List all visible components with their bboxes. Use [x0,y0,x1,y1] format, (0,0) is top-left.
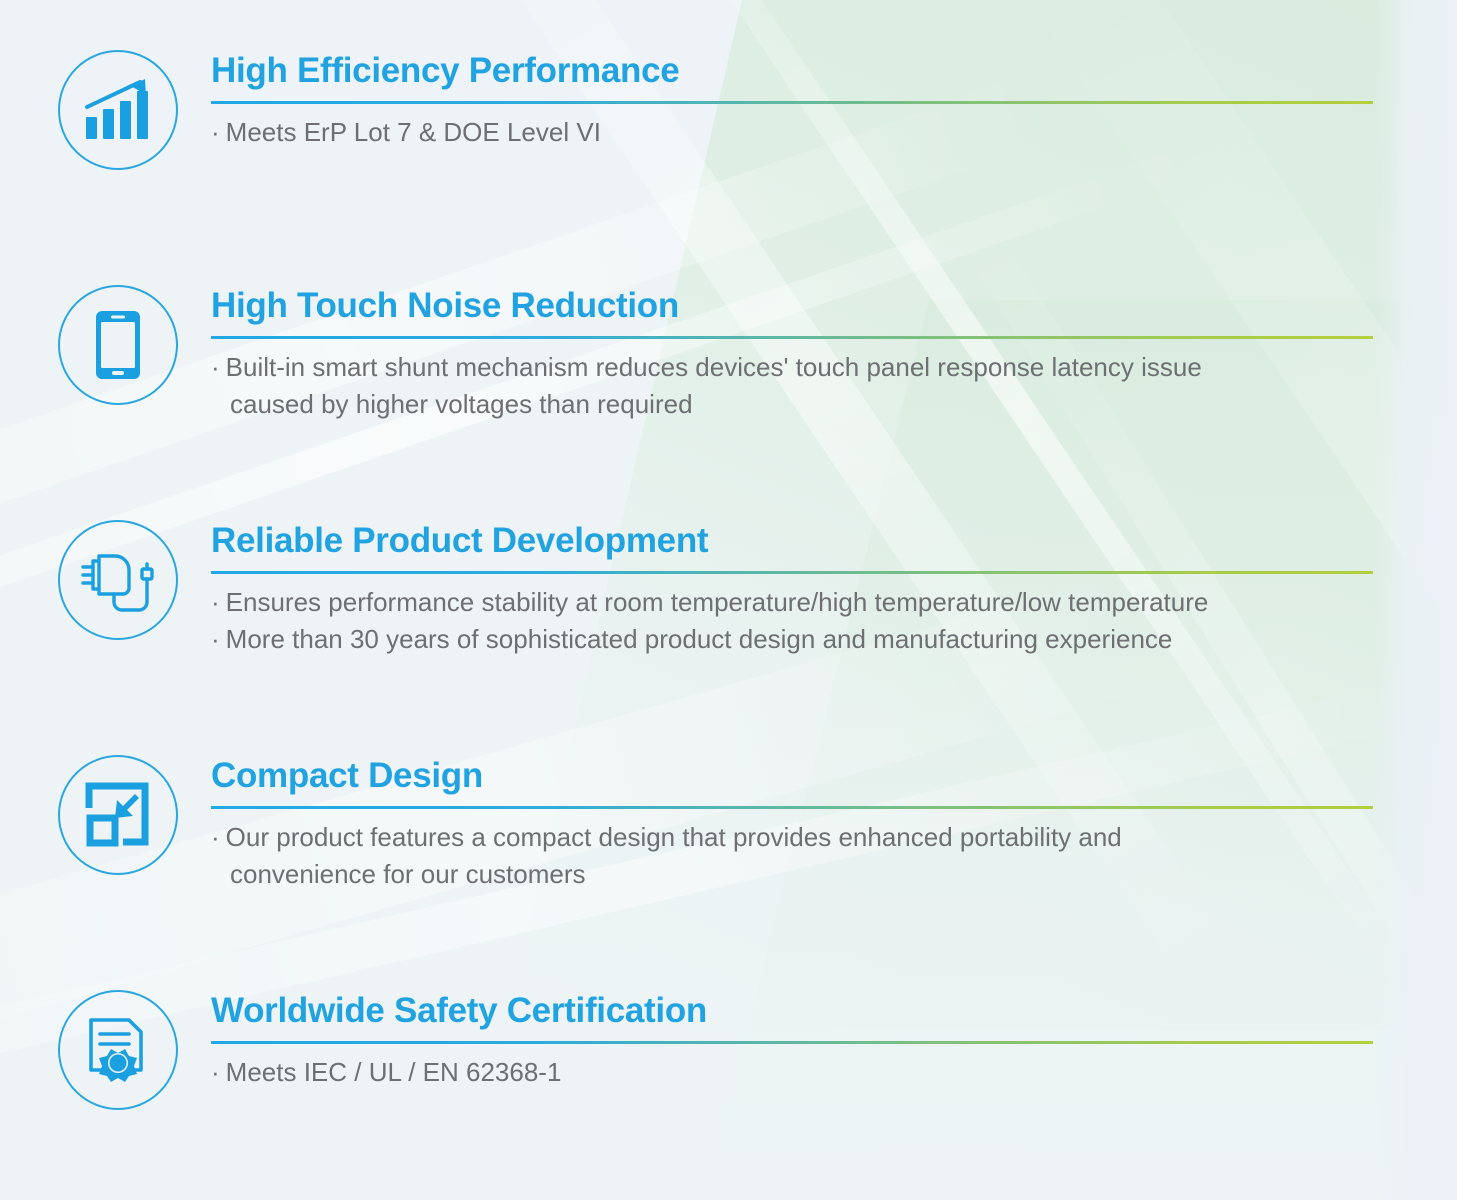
bullet-line: convenience for our customers [211,856,1375,893]
feature-bullet: ·Meets IEC / UL / EN 62368-1 [211,1054,1375,1091]
power-adapter-icon [58,520,178,640]
feature-divider [211,806,1373,809]
smartphone-icon [58,285,178,405]
feature-icon-wrap [55,990,181,1110]
feature-title: Reliable Product Development [211,520,1375,562]
feature-bullet: ·Our product features a compact design t… [211,819,1375,893]
feature-item-high-touch-noise-reduction: High Touch Noise Reduction ·Built-in sma… [0,285,1457,423]
compact-resize-icon [58,755,178,875]
bullet-marker: · [211,587,220,617]
feature-title: High Efficiency Performance [211,50,1375,92]
bullet-marker: · [211,822,220,852]
bullet-marker: · [211,352,220,382]
feature-bullet: ·More than 30 years of sophisticated pro… [211,621,1375,658]
feature-item-reliable-product-development: Reliable Product Development ·Ensures pe… [0,520,1457,658]
bullet-marker: · [211,1057,220,1087]
feature-divider [211,1041,1373,1044]
feature-title: Compact Design [211,755,1375,797]
bullet-line: Meets ErP Lot 7 & DOE Level VI [226,117,601,147]
feature-divider [211,571,1373,574]
feature-bullets: ·Meets IEC / UL / EN 62368-1 [211,1054,1375,1091]
feature-body: High Efficiency Performance ·Meets ErP L… [211,50,1457,151]
feature-list: High Efficiency Performance ·Meets ErP L… [0,0,1457,1200]
feature-list-page: High Efficiency Performance ·Meets ErP L… [0,0,1457,1200]
feature-bullets: ·Ensures performance stability at room t… [211,584,1375,658]
feature-item-compact-design: Compact Design ·Our product features a c… [0,755,1457,893]
feature-bullet: ·Ensures performance stability at room t… [211,584,1375,621]
bar-chart-growth-icon [58,50,178,170]
feature-body: Worldwide Safety Certification ·Meets IE… [211,990,1457,1091]
feature-icon-wrap [55,520,181,640]
feature-bullet: ·Built-in smart shunt mechanism reduces … [211,349,1375,423]
bullet-line: caused by higher voltages than required [211,386,1375,423]
feature-icon-wrap [55,50,181,170]
bullet-line: Ensures performance stability at room te… [226,587,1209,617]
bullet-line: More than 30 years of sophisticated prod… [226,624,1173,654]
feature-bullet: ·Meets ErP Lot 7 & DOE Level VI [211,114,1375,151]
feature-title: Worldwide Safety Certification [211,990,1375,1032]
feature-item-high-efficiency-performance: High Efficiency Performance ·Meets ErP L… [0,50,1457,170]
feature-body: Compact Design ·Our product features a c… [211,755,1457,893]
bullet-line: Meets IEC / UL / EN 62368-1 [226,1057,562,1087]
feature-title: High Touch Noise Reduction [211,285,1375,327]
feature-bullets: ·Meets ErP Lot 7 & DOE Level VI [211,114,1375,151]
bullet-marker: · [211,624,220,654]
feature-body: Reliable Product Development ·Ensures pe… [211,520,1457,658]
bullet-marker: · [211,117,220,147]
feature-icon-wrap [55,285,181,405]
feature-icon-wrap [55,755,181,875]
bullet-line: Built-in smart shunt mechanism reduces d… [226,352,1202,382]
feature-bullets: ·Built-in smart shunt mechanism reduces … [211,349,1375,423]
feature-divider [211,336,1373,339]
feature-divider [211,101,1373,104]
certificate-seal-icon [58,990,178,1110]
feature-item-worldwide-safety-certification: Worldwide Safety Certification ·Meets IE… [0,990,1457,1110]
bullet-line: Our product features a compact design th… [226,822,1122,852]
feature-bullets: ·Our product features a compact design t… [211,819,1375,893]
feature-body: High Touch Noise Reduction ·Built-in sma… [211,285,1457,423]
